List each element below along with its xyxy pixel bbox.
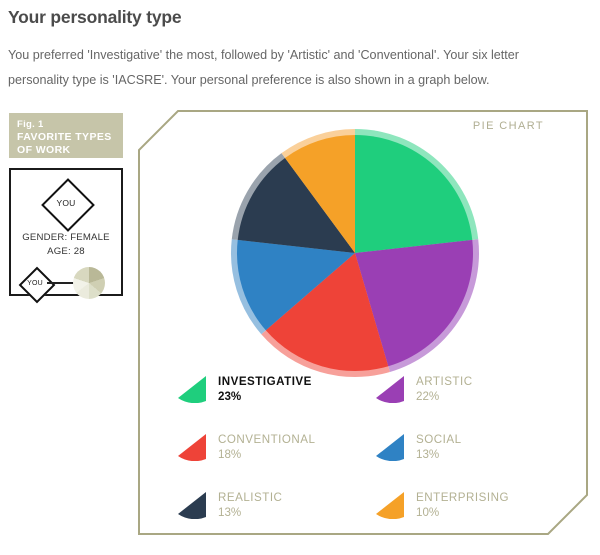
legend-wedge-icon [176, 489, 210, 519]
legend-item-conventional[interactable]: CONVENTIONAL18% [176, 430, 354, 468]
legend-wedge-icon [176, 373, 210, 403]
legend-text: SOCIAL13% [416, 430, 462, 463]
legend-wedge-icon [176, 431, 210, 461]
legend-item-social[interactable]: SOCIAL13% [374, 430, 552, 468]
legend-value: 22% [416, 389, 473, 405]
page-title: Your personality type [8, 4, 592, 32]
you-gender: GENDER: FEMALE [11, 231, 121, 245]
legend-label: CONVENTIONAL [218, 432, 315, 447]
legend-item-investigative[interactable]: INVESTIGATIVE23% [176, 372, 354, 410]
you-profile-card: YOU GENDER: FEMALE AGE: 28 YOU [9, 168, 123, 296]
legend-text: INVESTIGATIVE23% [218, 372, 312, 405]
legend-item-artistic[interactable]: ARTISTIC22% [374, 372, 552, 410]
pie-slices-group[interactable] [237, 135, 473, 371]
legend-text: ARTISTIC22% [416, 372, 473, 405]
you-age: AGE: 28 [11, 245, 121, 259]
legend-label: SOCIAL [416, 432, 462, 447]
legend-value: 13% [218, 505, 282, 521]
legend-label: REALISTIC [218, 490, 282, 505]
you-mini-row: YOU [19, 263, 117, 299]
you-meta: GENDER: FEMALE AGE: 28 [11, 231, 121, 259]
figure-caption: FAVORITE TYPES OF WORK [17, 131, 115, 157]
legend-item-enterprising[interactable]: ENTERPRISING10% [374, 488, 552, 526]
legend-text: CONVENTIONAL18% [218, 430, 315, 463]
mini-pie-icon [73, 267, 105, 299]
chart-legend: INVESTIGATIVE23%ARTISTIC22%CONVENTIONAL1… [176, 372, 568, 526]
legend-wedge-icon [374, 431, 408, 461]
legend-item-realistic[interactable]: REALISTIC13% [176, 488, 354, 526]
legend-text: ENTERPRISING10% [416, 488, 509, 521]
legend-wedge-icon [374, 489, 408, 519]
you-badge-label: YOU [42, 179, 90, 227]
legend-wedge-icon [374, 373, 408, 403]
pie-chart-svg [138, 110, 588, 385]
legend-value: 13% [416, 447, 462, 463]
pie-slice-investigative[interactable] [355, 135, 472, 253]
legend-label: INVESTIGATIVE [218, 374, 312, 389]
chart-panel: PIE CHART INVESTIGATIVE23%ARTISTIC22%CON… [138, 110, 588, 535]
intro-paragraph: You preferred 'Investigative' the most, … [8, 43, 568, 93]
legend-value: 18% [218, 447, 315, 463]
legend-value: 23% [218, 389, 312, 405]
pie-chart [138, 110, 588, 385]
legend-label: ARTISTIC [416, 374, 473, 389]
figure-number: Fig. 1 [17, 119, 115, 131]
legend-text: REALISTIC13% [218, 488, 282, 521]
figure-label-box: Fig. 1 FAVORITE TYPES OF WORK [9, 113, 123, 158]
you-diamond-badge: YOU [42, 179, 90, 227]
legend-label: ENTERPRISING [416, 490, 509, 505]
legend-value: 10% [416, 505, 509, 521]
header: Your personality type You preferred 'Inv… [8, 4, 592, 93]
